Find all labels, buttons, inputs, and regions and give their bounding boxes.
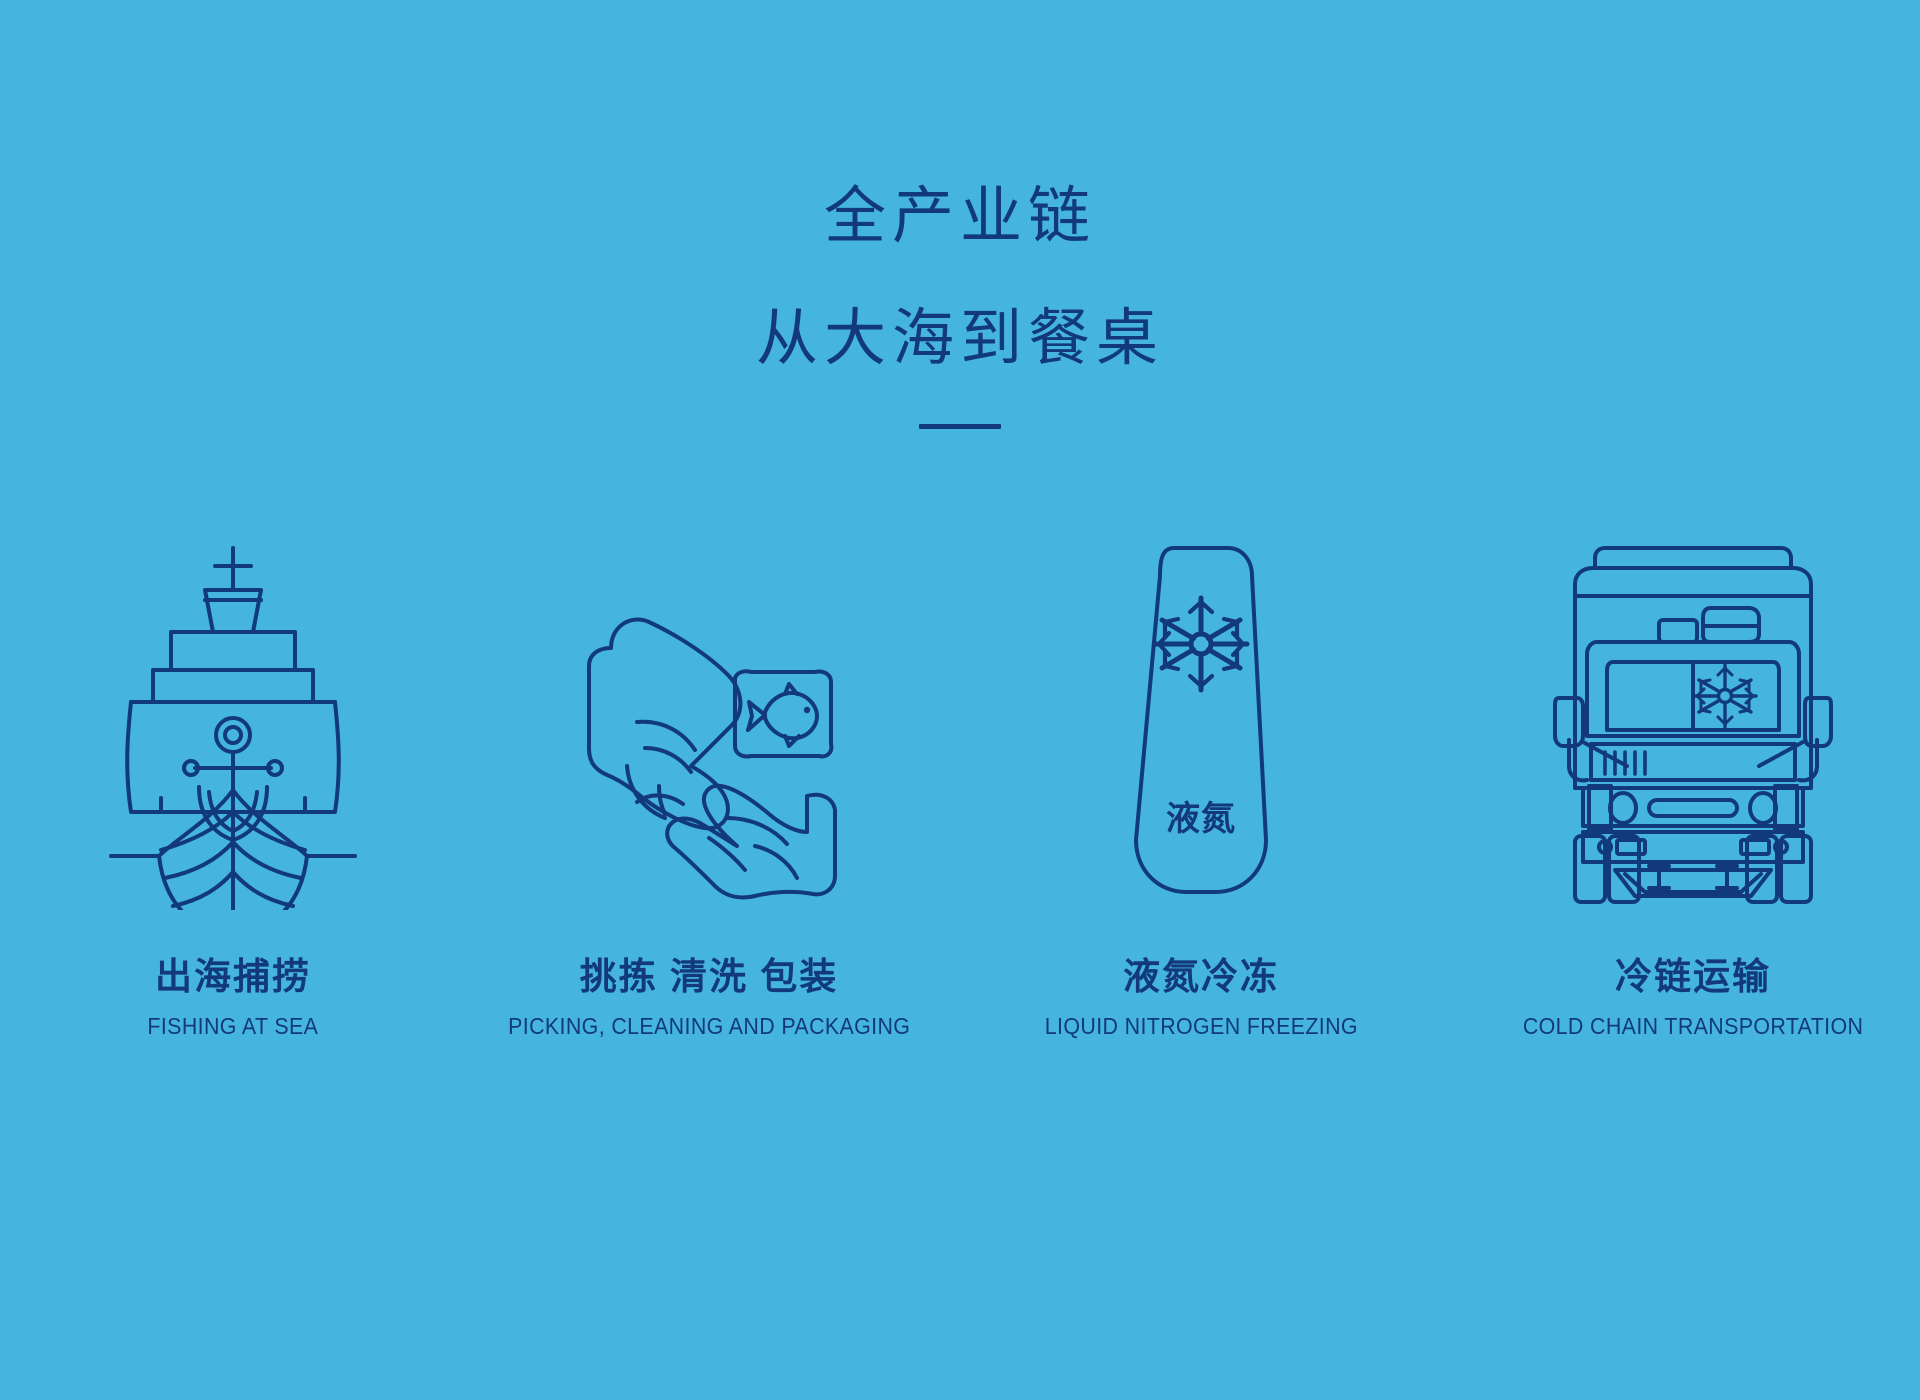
page-title-line-1: 全产业链 — [0, 186, 1920, 248]
snowflake-icon — [1694, 665, 1756, 727]
step-liquid-nitrogen-freezing[interactable]: 液氮 液氮冷冻 LIQUID NITROGEN FREEZING — [966, 520, 1436, 1041]
step-label-en: FISHING AT SEA — [148, 1012, 319, 1041]
step-labels: 冷链运输 COLD CHAIN TRANSPORTATION — [1510, 954, 1876, 1041]
step-labels: 出海捕捞 FISHING AT SEA — [141, 954, 325, 1041]
step-label-en: PICKING, CLEANING AND PACKAGING — [508, 1012, 910, 1041]
process-steps-row: 出海捕捞 FISHING AT SEA — [0, 520, 1920, 1041]
step-label-cn: 出海捕捞 — [141, 954, 325, 1000]
step-label-en: COLD CHAIN TRANSPORTATION — [1523, 1012, 1863, 1041]
step-labels: 挑拣 清洗 包装 PICKING, CLEANING AND PACKAGING — [493, 954, 925, 1041]
step-label-cn: 挑拣 清洗 包装 — [493, 954, 925, 1000]
page-header: 全产业链 从大海到餐桌 — [0, 0, 1920, 429]
step-label-cn: 液氮冷冻 — [1033, 954, 1370, 1000]
step-fishing-at-sea[interactable]: 出海捕捞 FISHING AT SEA — [0, 520, 468, 1041]
step-label-en: LIQUID NITROGEN FREEZING — [1044, 1012, 1357, 1041]
step-picking-cleaning-packaging[interactable]: 挑拣 清洗 包装 PICKING, CLEANING AND PACKAGING — [474, 520, 944, 1041]
fishing-boat-icon — [103, 520, 363, 910]
snowflake-icon — [1155, 598, 1247, 690]
refrigerated-truck-icon — [1553, 520, 1833, 910]
tank-label: 液氮 — [1166, 800, 1236, 838]
step-cold-chain-transportation[interactable]: 冷链运输 COLD CHAIN TRANSPORTATION — [1458, 520, 1920, 1041]
hands-with-packaged-fish-icon — [559, 520, 859, 910]
step-labels: 液氮冷冻 LIQUID NITROGEN FREEZING — [1033, 954, 1370, 1041]
step-label-cn: 冷链运输 — [1510, 954, 1876, 1000]
liquid-nitrogen-tank-icon: 液氮 — [1116, 520, 1286, 910]
page-title-line-2: 从大海到餐桌 — [0, 308, 1920, 370]
title-divider — [919, 424, 1001, 429]
